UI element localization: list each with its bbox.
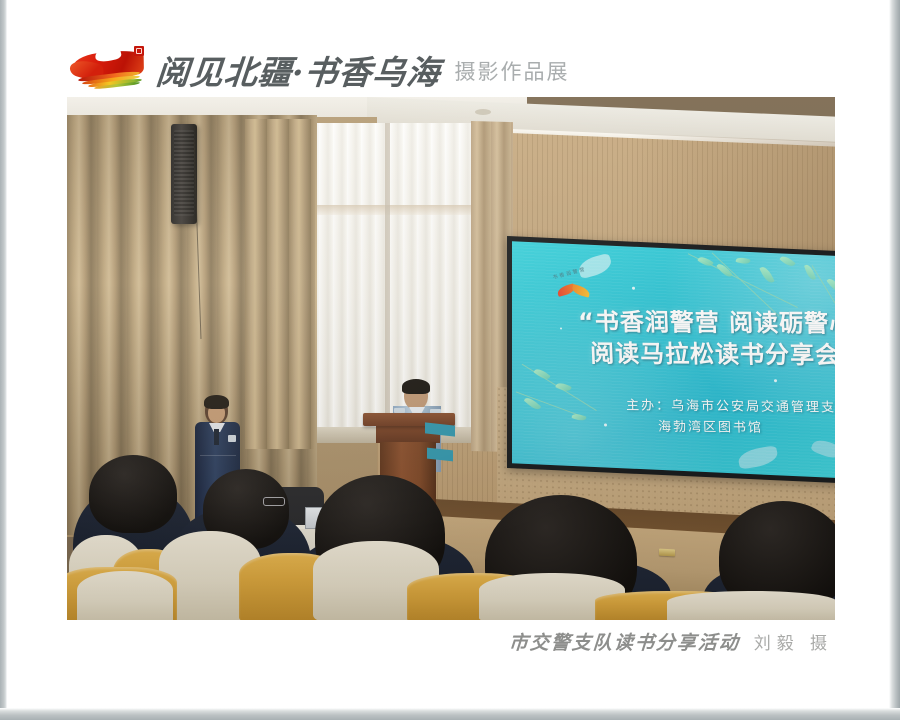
chair-cushion	[77, 571, 173, 620]
standing-officer-badge	[228, 435, 236, 442]
ceiling-speaker-icon	[475, 109, 491, 115]
exhibition-header: 阅见北疆·书香乌海 摄影作品展	[68, 36, 848, 92]
page-frame-bottom	[0, 708, 900, 720]
exhibition-subtitle: 摄影作品展	[455, 56, 570, 86]
police-reading-sharing-event-photo: 书香润警营 “书香润警营 阅读砺警心” 阅读马拉松读书分享会 主办：乌海市公安局…	[67, 97, 835, 620]
open-book-icon-right	[571, 284, 591, 298]
eyeglasses-icon	[263, 497, 285, 506]
screen-content: 书香润警营 “书香润警营 阅读砺警心” 阅读马拉松读书分享会 主办：乌海市公安局…	[512, 241, 835, 481]
sparkle-decoration	[560, 327, 562, 329]
standing-officer-tie	[214, 429, 219, 445]
exhibition-title: 阅见北疆·书香乌海	[155, 56, 442, 89]
sparkle-decoration	[632, 287, 635, 290]
floor-socket-icon	[659, 549, 675, 557]
slide-title-line-2: 阅读马拉松读书分享会	[589, 334, 835, 371]
slide-organizer-line-2: 海勃湾区图书馆	[658, 416, 764, 436]
caption-photographer-credit: 刘毅 摄	[754, 629, 835, 654]
window-mullion	[385, 123, 390, 441]
red-seal-icon	[134, 46, 144, 56]
wall-speaker-grille	[174, 130, 194, 216]
flame-ribbon-logo-icon	[68, 46, 150, 90]
speaking-police-officer-hair	[402, 379, 430, 394]
tan-curtain-middle	[245, 119, 315, 449]
page-frame-right	[889, 0, 900, 720]
standing-police-officer-hair	[204, 395, 229, 409]
chair-cushion	[667, 591, 835, 620]
slide-organizer-line-1: 主办：乌海市公安局交通管理支队	[626, 394, 835, 415]
led-presentation-screen: 书香润警营 “书香润警营 阅读砺警心” 阅读马拉松读书分享会 主办：乌海市公安局…	[507, 236, 835, 486]
standing-officer-pocket-line	[200, 455, 236, 456]
audience-head	[89, 455, 177, 533]
sparkle-decoration	[604, 423, 607, 426]
sparkle-decoration	[774, 379, 777, 382]
photo-caption: 市交警支队读书分享活动 刘毅 摄	[67, 626, 835, 656]
poster-page: 阅见北疆·书香乌海 摄影作品展	[0, 0, 900, 720]
caption-activity-name: 市交警支队读书分享活动	[508, 628, 741, 655]
